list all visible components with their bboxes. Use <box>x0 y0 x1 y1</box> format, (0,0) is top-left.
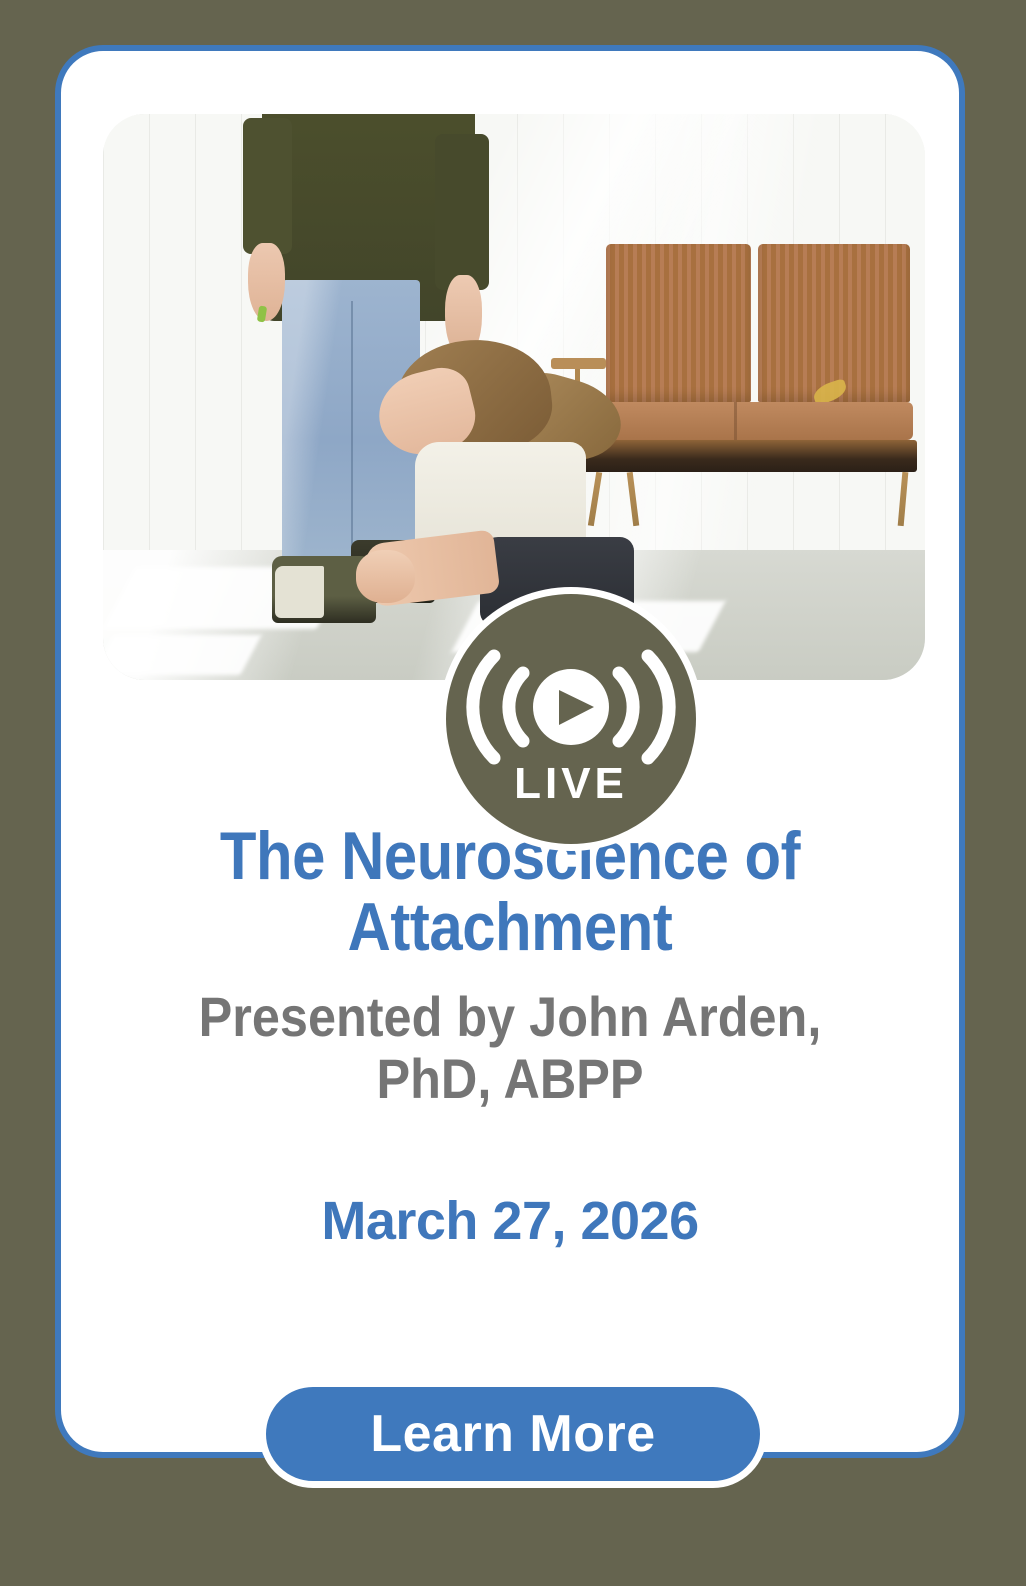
live-badge-label: LIVE <box>446 762 696 806</box>
learn-more-button[interactable]: Learn More <box>259 1380 767 1488</box>
bench-seat-split <box>734 402 737 440</box>
card-text-content: The Neuroscience of Attachment Presented… <box>101 821 919 1305</box>
child-hands <box>356 550 415 604</box>
cta-container: Learn More <box>0 1380 1026 1488</box>
adult-sleeve-right <box>435 134 489 290</box>
presenter-line: Presented by John Arden, PhD, ABPP <box>169 986 851 1109</box>
bench-backrest-right <box>758 244 910 402</box>
live-badge[interactable]: LIVE <box>446 594 696 844</box>
adult-boot-highlight <box>275 566 324 618</box>
webinar-promo-card: LIVE The Neuroscience of Attachment Pres… <box>55 45 965 1458</box>
sun-patch <box>103 635 261 675</box>
event-date: March 27, 2026 <box>101 1192 919 1251</box>
adult-sleeve-left <box>243 118 292 253</box>
